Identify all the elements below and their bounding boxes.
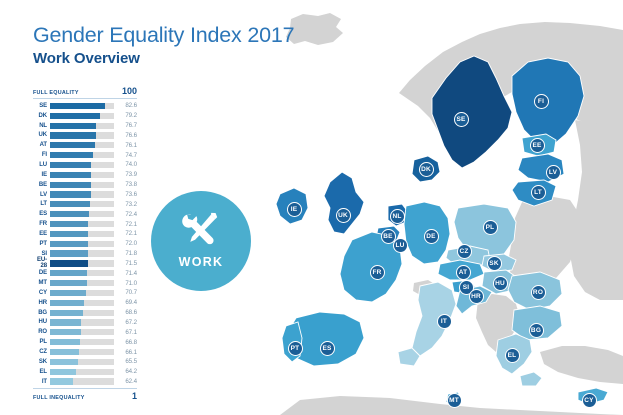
bar-row: UK76.6 — [33, 131, 137, 141]
bar-country-code: BG — [33, 310, 50, 316]
bar-country-code: LU — [33, 162, 50, 168]
bar-track — [50, 201, 114, 207]
bar-fill — [50, 319, 81, 325]
bar-value: 73.9 — [114, 171, 137, 178]
bar-fill — [50, 221, 88, 227]
bar-value: 69.4 — [114, 299, 137, 306]
map-label-ee: EE — [530, 138, 545, 153]
bar-country-code: EE — [33, 231, 50, 237]
bar-country-code: PL — [33, 339, 50, 345]
bar-row: CY70.7 — [33, 288, 137, 298]
map-label-ro: RO — [531, 285, 546, 300]
bar-row: HU67.2 — [33, 318, 137, 328]
bar-track — [50, 319, 114, 325]
bar-list: SE82.6DK79.2NL76.7UK76.6AT76.1FI74.7LU74… — [33, 101, 137, 386]
bar-value: 73.6 — [114, 191, 137, 198]
bar-fill — [50, 310, 83, 316]
bar-country-code: HR — [33, 300, 50, 306]
bar-fill — [50, 329, 81, 335]
bar-country-code: SE — [33, 103, 50, 109]
bar-value: 76.1 — [114, 142, 137, 149]
bar-value: 72.4 — [114, 211, 137, 218]
bar-country-code: ES — [33, 211, 50, 217]
bar-track — [50, 162, 114, 168]
map-label-mt: MT — [447, 393, 462, 408]
bar-row: FR72.1 — [33, 219, 137, 229]
map-label-fi: FI — [534, 94, 549, 109]
bar-fill — [50, 369, 76, 375]
bar-track — [50, 221, 114, 227]
bar-fill — [50, 211, 89, 217]
bar-track — [50, 300, 114, 306]
bar-row: EL64.2 — [33, 367, 137, 377]
bar-fill — [50, 359, 78, 365]
bar-value: 76.6 — [114, 132, 137, 139]
map-label-at: AT — [456, 265, 471, 280]
bar-value: 74.7 — [114, 152, 137, 159]
bar-fill — [50, 349, 79, 355]
bar-track — [50, 290, 114, 296]
bar-country-code: IE — [33, 172, 50, 178]
bar-fill — [50, 172, 91, 178]
bar-track — [50, 211, 114, 217]
bar-track — [50, 191, 114, 197]
map-label-lu: LU — [393, 238, 408, 253]
bar-track — [50, 103, 114, 109]
bar-fill — [50, 378, 73, 384]
map-label-nl: NL — [390, 209, 405, 224]
bar-value: 71.4 — [114, 270, 137, 277]
bar-row: HR69.4 — [33, 298, 137, 308]
full-inequality-row: FULL INEQUALITY 1 — [33, 391, 137, 403]
bar-fill — [50, 152, 93, 158]
bar-value: 64.2 — [114, 368, 137, 375]
bar-value: 72.1 — [114, 221, 137, 228]
bar-track — [50, 113, 114, 119]
bar-row: PT72.0 — [33, 239, 137, 249]
map-label-el: EL — [505, 348, 520, 363]
bar-row: DK79.2 — [33, 111, 137, 121]
page-subtitle: Work Overview — [33, 49, 294, 69]
bar-fill — [50, 201, 90, 207]
bar-row: NL76.7 — [33, 121, 137, 131]
bar-row: FI74.7 — [33, 150, 137, 160]
bar-value: 72.1 — [114, 230, 137, 237]
bar-value: 74.0 — [114, 161, 137, 168]
bar-fill — [50, 182, 91, 188]
map-label-hu: HU — [493, 276, 508, 291]
bar-country-code: UK — [33, 132, 50, 138]
bar-country-code: EL — [33, 369, 50, 375]
full-equality-value: 100 — [122, 86, 137, 96]
map-label-es: ES — [320, 341, 335, 356]
bar-country-code: RO — [33, 329, 50, 335]
bar-track — [50, 250, 114, 256]
map-label-pt: PT — [288, 341, 303, 356]
bar-fill — [50, 339, 80, 345]
bar-country-code: DK — [33, 113, 50, 119]
index-bar-chart: FULL EQUALITY 100 SE82.6DK79.2NL76.7UK76… — [33, 86, 137, 403]
bar-row: MT71.0 — [33, 278, 137, 288]
work-badge-label: WORK — [179, 255, 224, 269]
bar-track — [50, 172, 114, 178]
bar-track — [50, 349, 114, 355]
bar-fill — [50, 132, 96, 138]
full-equality-row: FULL EQUALITY 100 — [33, 86, 137, 98]
map-label-pl: PL — [483, 220, 498, 235]
bar-track — [50, 231, 114, 237]
bar-value: 62.4 — [114, 378, 137, 385]
bar-value: 71.5 — [114, 260, 137, 267]
bar-row: RO67.1 — [33, 327, 137, 337]
bar-country-code: SI — [33, 251, 50, 257]
bar-track — [50, 339, 114, 345]
bar-value: 76.7 — [114, 122, 137, 129]
map-label-cz: CZ — [457, 244, 472, 259]
bar-track — [50, 378, 114, 384]
bar-track — [50, 123, 114, 129]
map-label-dk: DK — [419, 162, 434, 177]
bar-fill — [50, 250, 88, 256]
map-label-hr: HR — [469, 289, 484, 304]
bar-row: IT62.4 — [33, 377, 137, 387]
map-label-se: SE — [454, 112, 469, 127]
bar-track — [50, 152, 114, 158]
bar-track — [50, 132, 114, 138]
bar-fill — [50, 241, 88, 247]
bar-row: PL66.8 — [33, 337, 137, 347]
bar-track — [50, 329, 114, 335]
bar-fill — [50, 142, 95, 148]
map-label-lt: LT — [531, 185, 546, 200]
bar-country-code: HU — [33, 319, 50, 325]
bar-value: 67.1 — [114, 329, 137, 336]
bar-row: BE73.8 — [33, 180, 137, 190]
bar-value: 68.6 — [114, 309, 137, 316]
bar-row: ES72.4 — [33, 209, 137, 219]
title-block: Gender Equality Index 2017 Work Overview — [33, 22, 294, 69]
bar-country-code: CY — [33, 290, 50, 296]
full-inequality-value: 1 — [132, 391, 137, 401]
bar-fill — [50, 300, 84, 306]
bar-track — [50, 182, 114, 188]
bar-fill — [50, 103, 105, 109]
bar-value: 67.2 — [114, 319, 137, 326]
scale-rule-bottom — [33, 388, 137, 389]
bar-value: 72.0 — [114, 240, 137, 247]
bar-fill — [50, 113, 100, 119]
bar-fill — [50, 270, 87, 276]
bar-value: 65.5 — [114, 358, 137, 365]
bar-row: AT76.1 — [33, 140, 137, 150]
bar-country-code: AT — [33, 142, 50, 148]
bar-row: LT73.2 — [33, 199, 137, 209]
bar-country-code: LT — [33, 201, 50, 207]
map-label-sk: SK — [487, 256, 502, 271]
bar-value: 66.1 — [114, 349, 137, 356]
bar-track — [50, 310, 114, 316]
map-label-uk: UK — [336, 208, 351, 223]
bar-country-code: BE — [33, 182, 50, 188]
bar-value: 79.2 — [114, 112, 137, 119]
work-badge: WORK — [151, 191, 251, 291]
bar-row: BG68.6 — [33, 308, 137, 318]
bar-country-code: IT — [33, 379, 50, 385]
bar-fill — [50, 231, 88, 237]
bar-fill — [50, 191, 91, 197]
wrench-pencil-icon — [179, 211, 223, 251]
map-label-de: DE — [424, 229, 439, 244]
map-label-cy: CY — [582, 393, 597, 408]
bar-country-code: DE — [33, 270, 50, 276]
map-label-lv: LV — [546, 165, 561, 180]
bar-track — [50, 241, 114, 247]
full-equality-label: FULL EQUALITY — [33, 90, 79, 96]
bar-row: LU74.0 — [33, 160, 137, 170]
bar-country-code: SK — [33, 359, 50, 365]
bar-country-code: MT — [33, 280, 50, 286]
bar-value: 66.8 — [114, 339, 137, 346]
bar-country-code: NL — [33, 123, 50, 129]
bar-value: 73.8 — [114, 181, 137, 188]
bar-country-code: FI — [33, 152, 50, 158]
infographic-root: SE FI DK EE LV LT IE UK NL BE LU DE PL C… — [0, 0, 623, 415]
bar-track — [50, 280, 114, 286]
bar-value: 71.0 — [114, 280, 137, 287]
scale-rule-top — [33, 98, 137, 99]
bar-fill — [50, 123, 96, 129]
map-label-bg: BG — [529, 323, 544, 338]
bar-row: LV73.6 — [33, 190, 137, 200]
bar-row: SE82.6 — [33, 101, 137, 111]
bar-value: 71.8 — [114, 250, 137, 257]
full-inequality-label: FULL INEQUALITY — [33, 395, 85, 401]
bar-country-code: LV — [33, 192, 50, 198]
bar-row: EU-2871.5 — [33, 259, 137, 269]
bar-country-code: EU-28 — [33, 257, 50, 269]
bar-value: 70.7 — [114, 289, 137, 296]
bar-track — [50, 270, 114, 276]
bar-row: EE72.1 — [33, 229, 137, 239]
bar-value: 82.6 — [114, 102, 137, 109]
bar-track — [50, 359, 114, 365]
bar-row: DE71.4 — [33, 268, 137, 278]
bar-row: CZ66.1 — [33, 347, 137, 357]
bar-value: 73.2 — [114, 201, 137, 208]
bar-row: IE73.9 — [33, 170, 137, 180]
bar-fill — [50, 260, 88, 266]
bar-track — [50, 142, 114, 148]
bar-row: SK65.5 — [33, 357, 137, 367]
map-label-it: IT — [437, 314, 452, 329]
bar-fill — [50, 162, 91, 168]
bar-fill — [50, 290, 86, 296]
map-label-fr: FR — [370, 265, 385, 280]
bar-track — [50, 260, 114, 266]
bar-country-code: PT — [33, 241, 50, 247]
bar-country-code: CZ — [33, 349, 50, 355]
bar-fill — [50, 280, 87, 286]
map-label-ie: IE — [287, 202, 302, 217]
bar-country-code: FR — [33, 221, 50, 227]
bar-track — [50, 369, 114, 375]
page-title: Gender Equality Index 2017 — [33, 22, 294, 48]
